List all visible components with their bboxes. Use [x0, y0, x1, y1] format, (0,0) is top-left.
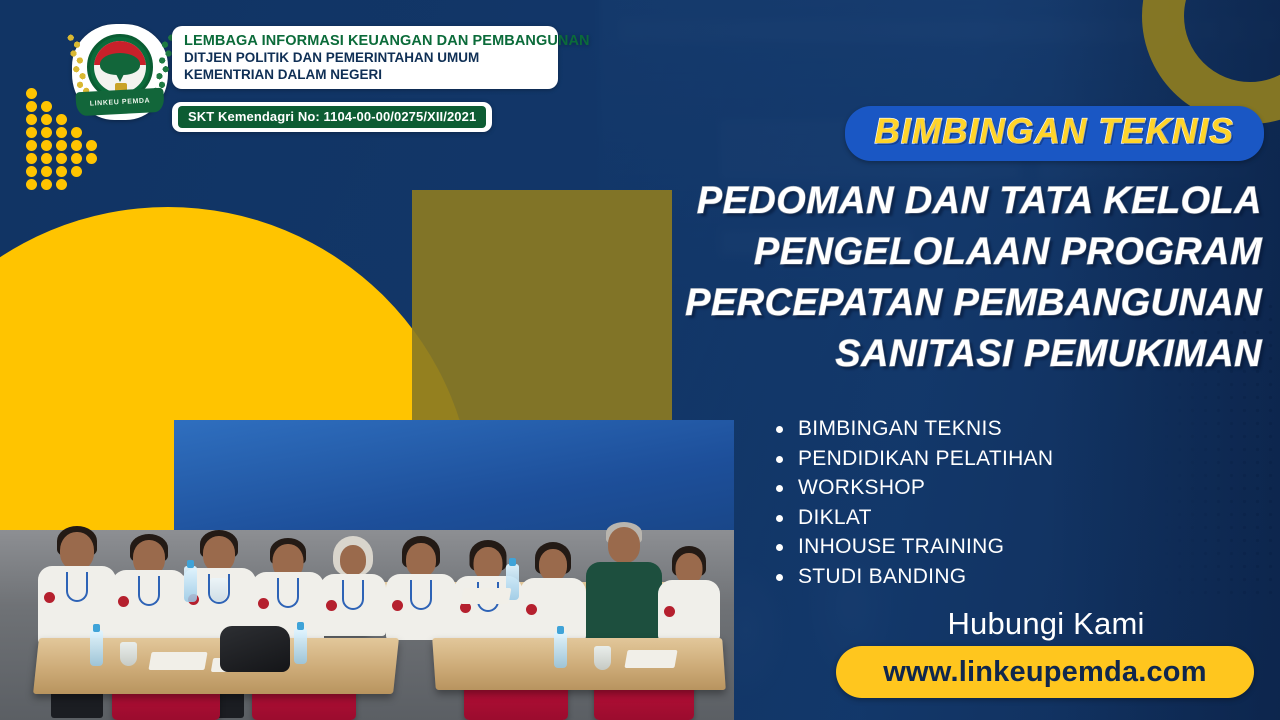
decorative-dot [26, 179, 37, 190]
decorative-dot [26, 114, 37, 125]
decorative-dot [56, 179, 67, 190]
headline-line-4: SANITASI PEMUKIMAN [642, 329, 1262, 380]
decorative-dot [71, 166, 82, 177]
list-item: BIMBINGAN TEKNIS [772, 414, 1053, 444]
water-bottle [554, 632, 567, 668]
person-head [539, 549, 567, 581]
person-uniform [520, 578, 586, 640]
list-item: WORKSHOP [772, 473, 1053, 503]
contact-label: Hubungi Kami [836, 606, 1256, 642]
lanyard [277, 578, 299, 608]
drinking-glass [210, 578, 227, 602]
decorative-dot [41, 166, 52, 177]
website-url: www.linkeupemda.com [883, 656, 1206, 689]
drinking-glass [594, 646, 611, 670]
decorative-dot [56, 127, 67, 138]
promo-banner: LINKEU PEMDA LEMBAGA INFORMASI KEUANGAN … [0, 0, 1280, 720]
headline: PEDOMAN DAN TATA KELOLA PENGELOLAAN PROG… [642, 176, 1262, 380]
uniform-emblem [258, 598, 269, 609]
water-bottle [294, 628, 307, 664]
decorative-dot [71, 127, 82, 138]
organization-header: LINKEU PEMDA LEMBAGA INFORMASI KEUANGAN … [68, 22, 558, 122]
person-uniform [320, 574, 386, 636]
list-item: INHOUSE TRAINING [772, 532, 1053, 562]
decorative-dot [56, 153, 67, 164]
decorative-dot [56, 166, 67, 177]
lanyard [66, 572, 88, 602]
person-head [203, 536, 235, 572]
org-line-2: DITJEN POLITIK DAN PEMERINTAHAN UMUM [184, 50, 548, 66]
water-bottle [90, 630, 103, 666]
uniform-emblem [44, 592, 55, 603]
uniform-emblem [392, 600, 403, 611]
content-column: BIMBINGAN TEKNIS PEDOMAN DAN TATA KELOLA… [620, 0, 1280, 720]
decorative-dot [86, 153, 97, 164]
uniform-emblem [326, 600, 337, 611]
event-type-badge: BIMBINGAN TEKNIS [845, 106, 1264, 161]
decorative-dot [41, 153, 52, 164]
decorative-dot [26, 140, 37, 151]
person-head [60, 532, 94, 570]
decorative-dot [71, 140, 82, 151]
skt-card: SKT Kemendagri No: 1104-00-00/0275/XII/2… [172, 102, 492, 132]
event-type-badge-label: BIMBINGAN TEKNIS [875, 112, 1234, 152]
person-uniform [112, 570, 186, 644]
person [320, 536, 386, 636]
decorative-dot [56, 140, 67, 151]
decorative-dot [26, 127, 37, 138]
org-line-1: LEMBAGA INFORMASI KEUANGAN DAN PEMBANGUN… [184, 33, 548, 50]
paper-sheet [148, 652, 207, 670]
person-uniform [386, 574, 456, 640]
person-uniform [38, 566, 116, 644]
list-item: STUDI BANDING [772, 562, 1053, 592]
lanyard [410, 580, 432, 610]
decorative-dot [41, 101, 52, 112]
person-head [340, 545, 366, 575]
person [386, 536, 456, 640]
person [520, 540, 586, 640]
headline-line-3: PERCEPATAN PEMBANGUNAN [642, 278, 1262, 329]
organization-name-card: LEMBAGA INFORMASI KEUANGAN DAN PEMBANGUN… [172, 26, 558, 89]
decorative-dot [26, 88, 37, 99]
banyan-tree-trunk-icon [111, 64, 129, 82]
drinking-glass [120, 642, 137, 666]
uniform-emblem [526, 604, 537, 615]
website-cta-button[interactable]: www.linkeupemda.com [836, 646, 1254, 698]
emblem-ribbon: LINKEU PEMDA [75, 88, 164, 117]
decorative-dot [26, 166, 37, 177]
list-item: DIKLAT [772, 503, 1053, 533]
headline-line-1: PEDOMAN DAN TATA KELOLA [642, 176, 1262, 227]
backpack [220, 626, 290, 672]
list-item: PENDIDIKAN PELATIHAN [772, 444, 1053, 474]
decorative-dot [41, 114, 52, 125]
decorative-dot [26, 101, 37, 112]
decorative-dot [41, 140, 52, 151]
headline-line-2: PENGELOLAAN PROGRAM [642, 227, 1262, 278]
person [38, 526, 116, 644]
decorative-dot [26, 153, 37, 164]
decorative-dot [56, 114, 67, 125]
person-head [406, 543, 436, 577]
logo-emblem: LINKEU PEMDA [68, 22, 172, 122]
decorative-dot [41, 127, 52, 138]
skt-badge: SKT Kemendagri No: 1104-00-00/0275/XII/2… [178, 106, 486, 128]
services-list: BIMBINGAN TEKNIS PENDIDIKAN PELATIHAN WO… [772, 414, 1053, 592]
decorative-dot [86, 140, 97, 151]
org-line-3: KEMENTRIAN DALAM NEGERI [184, 67, 548, 83]
decorative-dot [41, 179, 52, 190]
person [112, 530, 186, 644]
water-bottle [184, 566, 197, 602]
uniform-emblem [118, 596, 129, 607]
paper-sheet [461, 588, 512, 604]
emblem-ribbon-label: LINKEU PEMDA [90, 97, 151, 107]
lanyard [342, 580, 364, 610]
lanyard [138, 576, 160, 606]
decorative-dot [71, 153, 82, 164]
